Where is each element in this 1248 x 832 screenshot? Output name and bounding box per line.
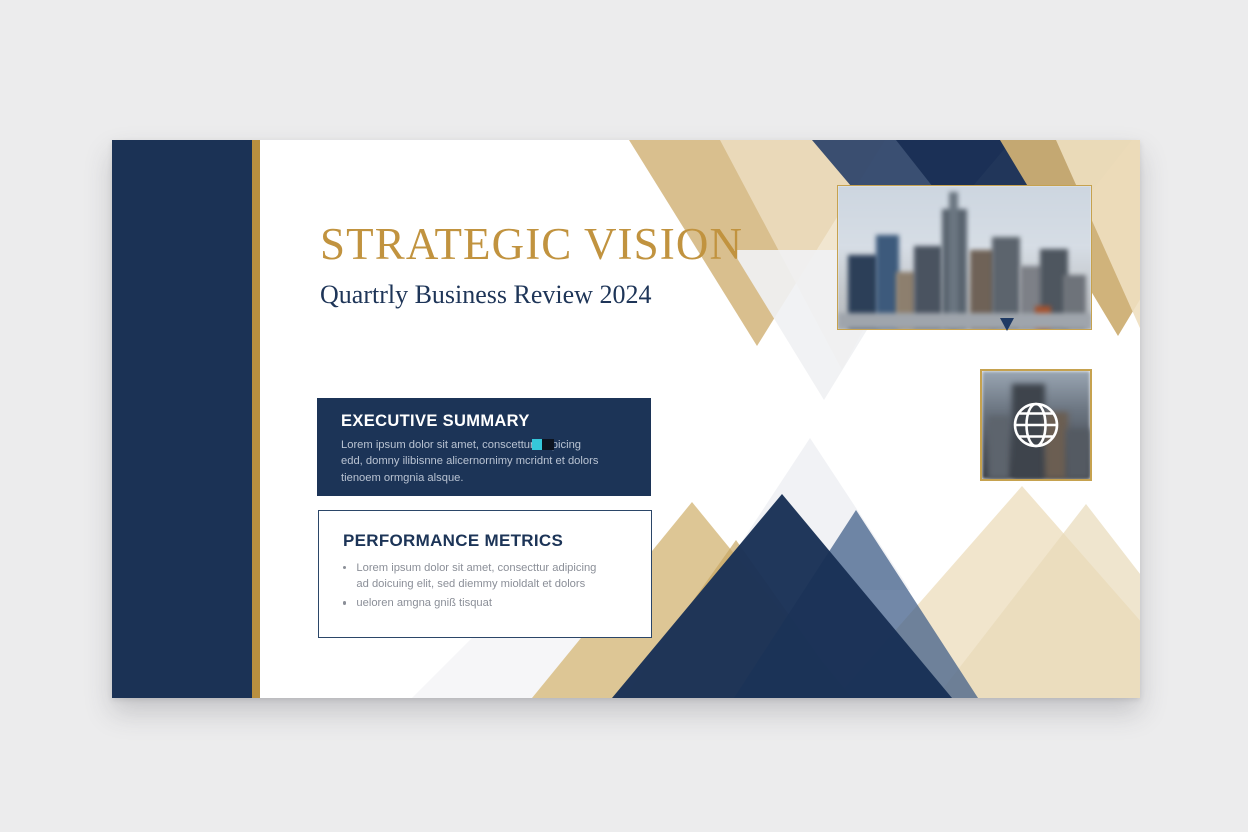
performance-metrics-card: PERFORMANCE METRICS Lorem ipsum dolor si… [318,510,652,638]
decorative-mountain-cream-far [936,504,1140,698]
skyline-waterfront [838,313,1091,329]
globe-photo [982,371,1090,479]
performance-metrics-heading: PERFORMANCE METRICS [343,531,635,551]
slide-subtitle: Quartrly Business Review 2024 [320,282,743,308]
globe-photo-frame [980,369,1092,481]
bullet-dot-icon [343,601,346,604]
skyline-photo-frame [837,185,1092,330]
bullet-dot-icon [343,566,346,569]
title-block: STRATEGIC VISION Quartrly Business Revie… [320,222,743,308]
decorative-mountain-cream-right [836,486,1140,698]
performance-metrics-bullet: Lorem ipsum dolor sit amet, consecttur a… [343,560,663,592]
sidebar-gold-accent-rule [252,140,260,698]
globe-photo-building [1066,429,1090,479]
decorative-mountain-navy-main [612,494,952,698]
decorative-mountain-grey-peak [710,438,910,590]
map-pin-marker-icon [1000,318,1014,331]
slide-title: STRATEGIC VISION [320,222,743,267]
performance-metrics-bullet-text: ueloren amgna gniß tisquat [356,595,492,611]
executive-summary-card: EXECUTIVE SUMMARY Lorem ipsum dolor sit … [317,398,651,496]
presentation-slide: KEY INITIATIVES MARKET ANALYSIS FUTURE G… [112,140,1140,698]
executive-summary-heading: EXECUTIVE SUMMARY [341,412,631,431]
decorative-mountain-navy-light [734,510,978,698]
globe-icon [1009,398,1063,452]
skyline-building [949,192,958,329]
text-render-artifact [532,439,554,450]
globe-photo-building [988,416,1010,479]
performance-metrics-bullet: ueloren amgna gniß tisquat [343,595,663,611]
sidebar [112,140,252,698]
performance-metrics-bullet-text: Lorem ipsum dolor sit amet, consecttur a… [356,560,596,592]
executive-summary-body: Lorem ipsum dolor sit amet, conscettur a… [341,437,659,486]
skyline-photo [838,186,1091,329]
